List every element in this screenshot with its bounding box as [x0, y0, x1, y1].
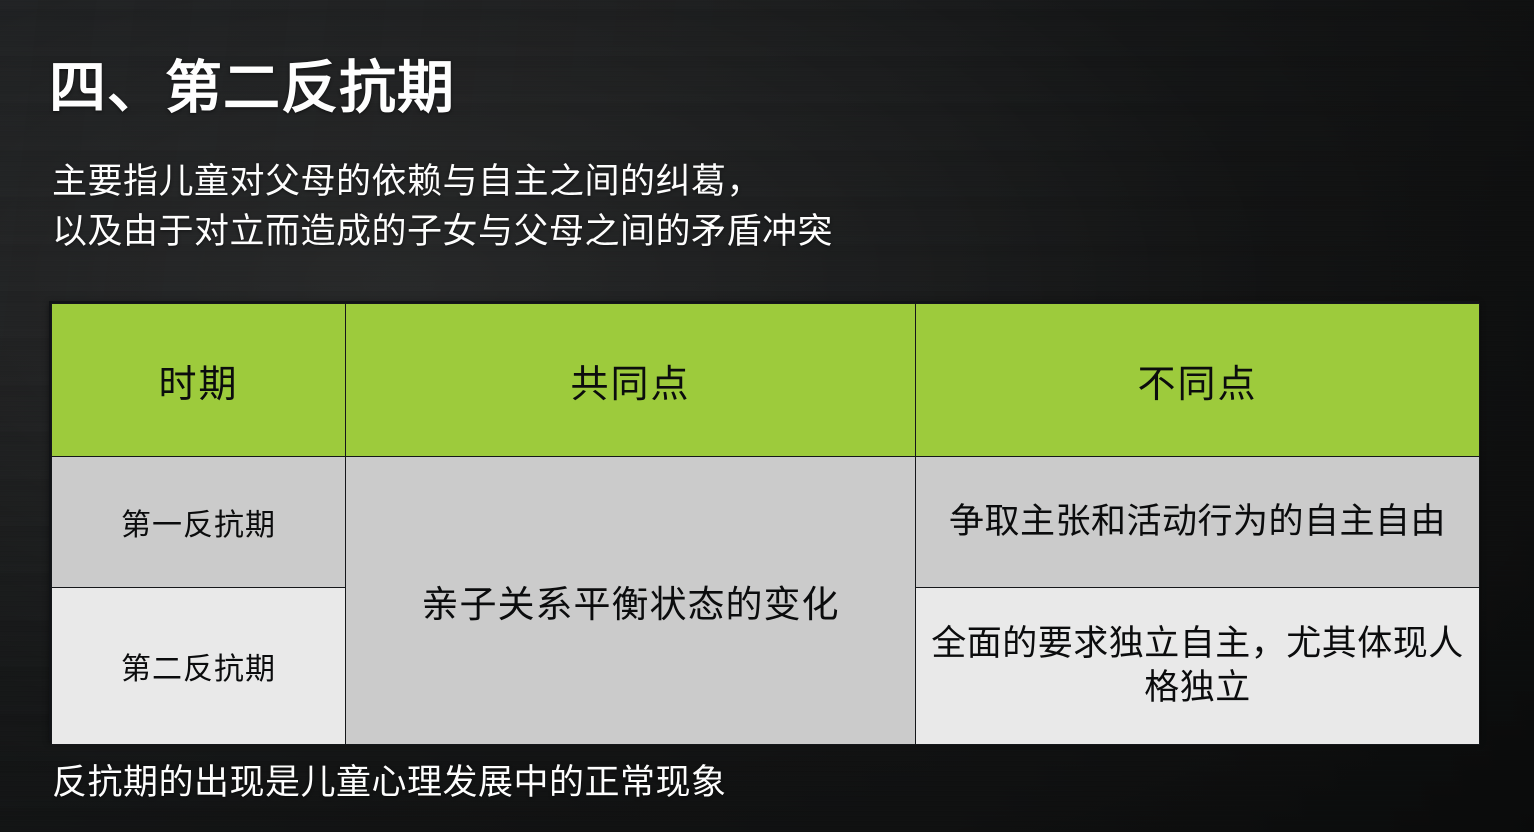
- cell-common-merged: 亲子关系平衡状态的变化: [346, 457, 916, 745]
- slide-canvas: 四、第二反抗期 主要指儿童对父母的依赖与自主之间的纠葛， 以及由于对立而造成的子…: [0, 0, 1534, 832]
- column-header-common: 共同点: [346, 304, 916, 457]
- page-title: 四、第二反抗期: [49, 56, 455, 122]
- table-body: 第一反抗期 亲子关系平衡状态的变化 争取主张和活动行为的自主自由 第二反抗期 全…: [52, 457, 1480, 745]
- cell-difference-second: 全面的要求独立自主，尤其体现人格独立: [916, 588, 1480, 745]
- table-row: 第一反抗期 亲子关系平衡状态的变化 争取主张和活动行为的自主自由: [52, 457, 1480, 588]
- cell-difference-first: 争取主张和活动行为的自主自由: [916, 457, 1480, 588]
- cell-period-second: 第二反抗期: [52, 588, 346, 745]
- footer-note: 反抗期的出现是儿童心理发展中的正常现象: [52, 754, 727, 805]
- cell-period-first: 第一反抗期: [52, 457, 346, 588]
- table-header-row: 时期 共同点 不同点: [52, 304, 1480, 457]
- table-header: 时期 共同点 不同点: [52, 304, 1480, 457]
- lead-paragraph: 主要指儿童对父母的依赖与自主之间的纠葛， 以及由于对立而造成的子女与父母之间的矛…: [52, 157, 833, 256]
- column-header-difference: 不同点: [916, 304, 1480, 457]
- comparison-table: 时期 共同点 不同点 第一反抗期 亲子关系平衡状态的变化 争取主张和活动行为的自…: [51, 303, 1480, 745]
- lead-line-2: 以及由于对立而造成的子女与父母之间的矛盾冲突: [52, 207, 833, 257]
- column-header-period: 时期: [52, 304, 346, 457]
- lead-line-1: 主要指儿童对父母的依赖与自主之间的纠葛，: [52, 157, 833, 207]
- comparison-table-container: 时期 共同点 不同点 第一反抗期 亲子关系平衡状态的变化 争取主张和活动行为的自…: [49, 301, 1479, 741]
